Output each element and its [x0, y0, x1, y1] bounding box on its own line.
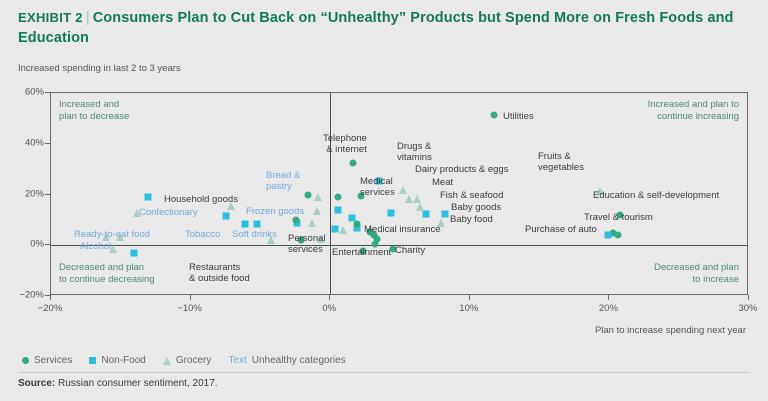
y-tick-mark — [45, 143, 50, 144]
data-point-label: Fruits & vegetables — [538, 151, 584, 173]
data-point-marker[interactable] — [334, 206, 341, 213]
y-tick-label: −20% — [2, 290, 44, 301]
data-point-labeled[interactable] — [227, 202, 235, 210]
footer-divider — [18, 372, 750, 373]
data-point-marker[interactable] — [292, 217, 299, 224]
data-point-label: Restaurants & outside food — [189, 262, 250, 284]
x-tick-mark — [329, 295, 330, 300]
legend-text-swatch: Text — [228, 355, 246, 366]
y-tick-mark — [45, 244, 50, 245]
legend-item-grocery[interactable]: Grocery — [163, 355, 212, 366]
data-point-label: Baby food — [450, 214, 493, 225]
legend-item-non-food[interactable]: Non-Food — [89, 355, 145, 366]
data-point-labeled[interactable] — [399, 186, 407, 194]
data-point-label: Bread & pastry — [266, 170, 300, 192]
page-title: Exhibit 2|Consumers Plan to Cut Back on … — [18, 8, 754, 48]
data-point-label: Frozen goods — [246, 206, 304, 217]
data-point-label: Dairy products & eggs — [415, 164, 508, 175]
data-point-label: Baby goods — [451, 202, 501, 213]
x-tick-label: −20% — [20, 303, 80, 314]
data-point-marker[interactable] — [405, 195, 413, 203]
data-point-marker[interactable] — [305, 191, 312, 198]
data-point-label: Travel & tourism — [584, 212, 653, 223]
data-point-marker[interactable] — [313, 207, 321, 215]
triangle-marker — [163, 357, 171, 365]
data-point-label: Ready-to-eat food — [74, 229, 150, 240]
data-point-label: Drugs & vitamins — [397, 141, 432, 163]
exhibit-label: Exhibit 2 — [18, 10, 83, 25]
square-marker — [89, 357, 96, 364]
x-tick-label: 20% — [578, 303, 638, 314]
data-point-label: Fish & seafood — [440, 190, 503, 201]
data-point-label: Medical insurance — [364, 224, 441, 235]
quadrant-note-bottom-right: Decreased and planto increase — [654, 262, 739, 286]
chart-legend: ServicesNon-FoodGroceryTextUnhealthy cat… — [22, 355, 363, 366]
legend-item-services[interactable]: Services — [22, 355, 72, 366]
data-point-label: Charity — [395, 245, 425, 256]
data-point-labeled[interactable] — [416, 203, 424, 211]
data-point-marker[interactable] — [334, 194, 341, 201]
data-point-labeled[interactable] — [442, 210, 449, 217]
x-tick-label: −10% — [160, 303, 220, 314]
data-point-marker[interactable] — [314, 193, 322, 201]
data-point-label: Medical services — [360, 176, 395, 198]
x-tick-mark — [469, 295, 470, 300]
quadrant-note-top-right: Increased and plan tocontinue increasing — [648, 99, 739, 123]
data-point-labeled[interactable] — [130, 250, 137, 257]
data-point-marker[interactable] — [339, 226, 347, 234]
legend-item-label: Services — [34, 355, 72, 366]
data-point-marker[interactable] — [387, 209, 394, 216]
legend-item-label: Unhealthy categories — [252, 355, 346, 366]
x-tick-mark — [190, 295, 191, 300]
x-tick-mark — [50, 295, 51, 300]
y-tick-label: 0% — [2, 239, 44, 250]
x-axis-title: Plan to increase spending next year — [595, 325, 746, 336]
data-point-label: Entertainment — [332, 247, 391, 258]
data-point-labeled[interactable] — [144, 194, 151, 201]
x-tick-label: 10% — [439, 303, 499, 314]
quadrant-note-top-left: Increased andplan to decrease — [59, 99, 129, 123]
data-point-labeled[interactable] — [605, 232, 612, 239]
data-point-label: Tobacco — [185, 229, 220, 240]
data-point-marker[interactable] — [331, 226, 338, 233]
y-tick-mark — [45, 92, 50, 93]
data-point-marker[interactable] — [354, 220, 361, 227]
x-tick-mark — [748, 295, 749, 300]
data-point-label: Alcohol — [80, 241, 111, 252]
data-point-label: Education & self-development — [593, 190, 719, 201]
data-point-labeled[interactable] — [349, 160, 356, 167]
quadrant-note-bottom-left: Decreased and planto continue decreasing — [59, 262, 155, 286]
data-point-label: Utilities — [503, 111, 534, 122]
data-point-marker[interactable] — [222, 213, 229, 220]
data-point-labeled[interactable] — [413, 195, 421, 203]
data-point-label: Purchase of auto — [525, 224, 597, 235]
title-text: Consumers Plan to Cut Back on “Unhealthy… — [18, 10, 734, 46]
y-tick-label: 40% — [2, 137, 44, 148]
data-point-label: Meat — [432, 177, 453, 188]
data-point-marker[interactable] — [348, 214, 355, 221]
y-tick-label: 60% — [2, 87, 44, 98]
x-tick-label: 30% — [718, 303, 768, 314]
x-tick-label: 0% — [299, 303, 359, 314]
source-note: Source: Russian consumer sentiment, 2017… — [18, 378, 218, 389]
legend-item-unhealthy-categories[interactable]: TextUnhealthy categories — [228, 355, 345, 366]
circle-marker — [22, 357, 29, 364]
data-point-labeled[interactable] — [490, 111, 497, 118]
y-zero-axis — [330, 93, 331, 294]
y-axis-title: Increased spending in last 2 to 3 years — [18, 63, 181, 74]
source-text: Russian consumer sentiment, 2017. — [58, 378, 218, 389]
y-tick-mark — [45, 194, 50, 195]
legend-item-label: Non-Food — [101, 355, 145, 366]
source-prefix: Source: — [18, 378, 55, 389]
x-tick-mark — [608, 295, 609, 300]
data-point-labeled[interactable] — [242, 220, 249, 227]
data-point-label: Telephone & internet — [323, 133, 367, 155]
data-point-label: Confectionary — [139, 207, 198, 218]
data-point-marker[interactable] — [308, 219, 316, 227]
data-point-label: Personal services — [288, 233, 326, 255]
title-separator: | — [83, 10, 93, 26]
data-point-label: Soft drinks — [232, 229, 277, 240]
y-tick-label: 20% — [2, 188, 44, 199]
data-point-marker[interactable] — [253, 220, 260, 227]
legend-item-label: Grocery — [176, 355, 212, 366]
